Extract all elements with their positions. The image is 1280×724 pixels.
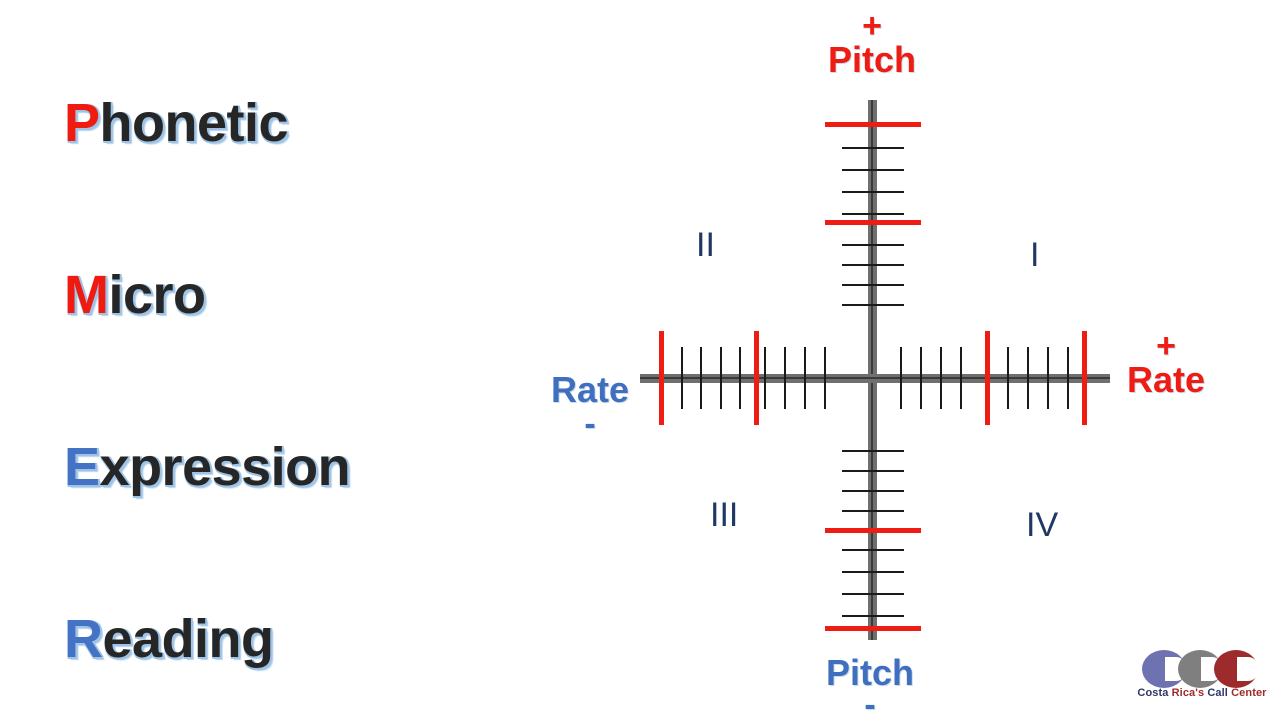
acronym-initial: P [64,93,100,153]
plus-sign-icon: + [820,14,924,40]
rate-axis-minor-tick [700,347,702,409]
pitch-axis-minor-tick [842,264,904,266]
rate-axis-major-tick [659,331,664,425]
pitch-axis-major-tick [825,220,921,225]
acronym-item-phonetic: Phonetic [64,96,288,150]
logo-word-ricas: Rica's [1172,687,1208,699]
axis-label-text: Rate [551,369,629,410]
rate-axis-minor-tick [681,347,683,409]
rate-axis-minor-tick [1047,347,1049,409]
rate-axis-minor-tick [960,347,962,409]
pitch-axis-major-tick [825,528,921,533]
rate-axis-major-tick [985,331,990,425]
axis-label-text: Rate [1127,359,1205,400]
logo-c-maroon-icon [1214,650,1258,688]
logo-word-costa: Costa [1137,687,1171,699]
rate-axis-minor-tick [900,347,902,409]
acronym-initial: E [64,437,100,497]
acronym-rest: icro [108,265,205,325]
company-logo: Costa Rica's Call Center [1136,648,1268,710]
acronym-rest: honetic [100,93,289,153]
minus-sign-icon: - [818,693,922,719]
acronym-item-reading: Reading [64,612,274,666]
pitch-axis-minor-tick [842,244,904,246]
pitch-axis-minor-tick [842,549,904,551]
rate-axis-major-tick [754,331,759,425]
pitch-rate-quadrant-chart: + Pitch Pitch - Rate - + Rate I II III I… [520,0,1280,720]
acronym-rest: xpression [100,437,351,497]
minus-sign-icon: - [538,412,642,438]
pitch-axis-major-tick [825,122,921,127]
pitch-axis-minor-tick [842,615,904,617]
pitch-axis-major-tick [825,626,921,631]
rate-axis-minor-tick [920,347,922,409]
rate-axis-minor-tick [1007,347,1009,409]
plus-sign-icon: + [1114,334,1218,360]
axis-label-pitch-positive: + Pitch [820,14,924,78]
quadrant-label-iii: III [710,498,738,532]
rate-axis-minor-tick [824,347,826,409]
pitch-axis-minor-tick [842,470,904,472]
axis-label-pitch-negative: Pitch - [818,655,922,719]
quadrant-label-ii: II [696,228,715,262]
rate-axis-minor-tick [804,347,806,409]
rate-axis-minor-tick [784,347,786,409]
acronym-rest: eading [103,609,274,669]
quadrant-label-i: I [1030,238,1039,272]
acronym-initial: R [64,609,103,669]
acronym-initial: M [64,265,108,325]
axis-label-text: Pitch [828,39,916,80]
pitch-axis-minor-tick [842,169,904,171]
pitch-axis-minor-tick [842,147,904,149]
logo-word-call: Call [1207,687,1231,699]
axis-label-rate-negative: Rate - [538,372,642,438]
pitch-axis-minor-tick [842,571,904,573]
rate-axis-horizontal [640,374,1110,383]
pitch-axis-minor-tick [842,213,904,215]
rate-axis-major-tick [1082,331,1087,425]
acronym-item-expression: Expression [64,440,350,494]
pitch-axis-minor-tick [842,191,904,193]
rate-axis-minor-tick [940,347,942,409]
rate-axis-minor-tick [720,347,722,409]
logo-c-marks [1136,648,1268,690]
quadrant-label-iv: IV [1026,508,1058,542]
rate-axis-minor-tick [1027,347,1029,409]
pitch-axis-minor-tick [842,510,904,512]
pitch-axis-minor-tick [842,304,904,306]
logo-word-center: Center [1231,687,1266,699]
rate-axis-minor-tick [739,347,741,409]
pitch-axis-minor-tick [842,284,904,286]
acronym-list: Phonetic Micro Expression Reading [0,0,520,720]
rate-axis-minor-tick [1067,347,1069,409]
pitch-axis-vertical [868,100,877,640]
acronym-item-micro: Micro [64,268,206,322]
pitch-axis-minor-tick [842,490,904,492]
pitch-axis-minor-tick [842,450,904,452]
logo-wordmark: Costa Rica's Call Center [1136,687,1268,699]
axis-label-rate-positive: + Rate [1114,334,1218,398]
rate-axis-minor-tick [764,347,766,409]
pitch-axis-minor-tick [842,593,904,595]
